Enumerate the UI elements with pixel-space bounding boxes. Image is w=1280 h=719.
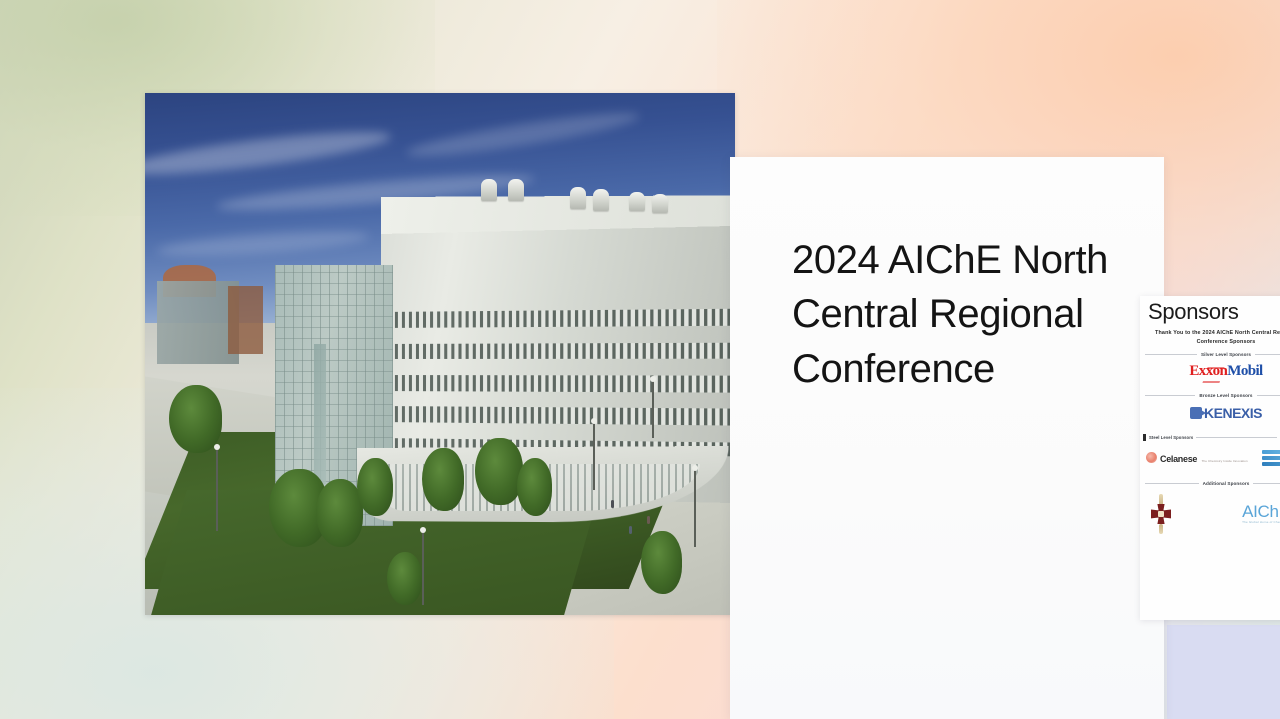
rooftop-vent-icon [508,179,524,201]
stripe [1262,462,1280,466]
window-band [381,309,735,328]
exxon-xx: xx [1199,363,1213,379]
exxon-mobil: Mobil [1227,363,1262,379]
sponsors-heading: Sponsors [1140,300,1280,324]
tier-logos-silver: ExxonMobil [1140,357,1280,387]
aiche-wordmark: AIChE [1242,502,1280,521]
rooftop-vent-icon [629,192,645,211]
sponsors-subtitle: Thank You to the 2024 AIChE North Centra… [1140,329,1280,346]
pedestrian [629,526,632,534]
window-band [381,375,735,392]
tier-logos-bronze: KENEXIS [1140,398,1280,428]
crest-bottom-ornament-icon [1159,524,1163,534]
distant-brick-building [228,286,263,354]
sponsors-poster: Sponsors Thank You to the 2024 AIChE Nor… [1140,296,1280,620]
celanese-tagline: The Chemistry Inside Innovation [1202,459,1248,463]
celanese-logo: Celanese The Chemistry Inside Innovation [1146,449,1248,467]
lamp-post [694,469,696,547]
aiche-logo: AIChE The Global Home of Chemical Engine… [1242,503,1280,524]
rooftop-vent-icon [593,189,609,211]
tier-rule-left [1145,395,1195,396]
aiche-tagline: The Global Home of Chemical Engineers [1242,521,1280,524]
tier-rule-right [1253,483,1280,484]
tier-rule-left [1145,354,1197,355]
lamp-post [422,531,424,604]
tier-label-steel: Steel Level Sponsors [1149,435,1193,440]
tree [475,438,522,506]
lamp-post [593,422,595,490]
tier-label-additional: Additional Sponsors [1203,481,1250,486]
stripe [1262,450,1280,454]
tree [641,531,682,594]
tier-rule-right [1257,395,1280,396]
tier-rule-left [1145,483,1199,484]
pedestrian [611,500,614,508]
pedestrian [647,516,650,524]
rooftop-vent-icon [481,179,497,201]
page-title: 2024 AIChE North Central Regional Confer… [792,233,1112,396]
rooftop-vent-icon [570,187,586,209]
tree [169,385,222,453]
kenexis-wordmark: KENEXIS [1204,405,1262,421]
rooftop-vent-icon [652,194,668,213]
tree [316,479,363,547]
lamp-post [216,448,218,532]
celanese-wordmark: Celanese [1160,454,1197,464]
tree [357,458,392,515]
exxon-e: E [1189,363,1198,379]
window-band [381,406,735,426]
tier-logos-additional: AIChE The Global Home of Chemical Engine… [1140,486,1280,542]
lamp-post [652,380,654,437]
blue-stripes-sponsor-logo [1262,450,1280,466]
campus-building-photo [145,93,735,615]
tier-label-silver: Silver Level Sponsors [1201,352,1251,357]
exxon-on: on [1213,363,1228,379]
tier-header-steel-node: Steel Level Sponsors Node Level [1140,434,1280,441]
window-band [381,342,735,359]
tier-bullet-icon [1143,434,1146,441]
celanese-swirl-icon [1146,452,1157,463]
tier-label-bronze: Bronze Level Sponsors [1199,393,1252,398]
tier-rule-right [1255,354,1280,355]
tier-rule-mid [1196,437,1276,438]
title-card: 2024 AIChE North Central Regional Confer… [730,157,1164,719]
tree [517,458,552,515]
stripe [1262,456,1280,460]
tree [387,552,422,604]
crest-center-icon [1158,511,1164,517]
tier-logos-steel-node: Celanese The Chemistry Inside Innovation [1140,441,1280,475]
kenexis-mark-icon [1190,407,1202,419]
exxonmobil-logo: ExxonMobil [1189,363,1262,380]
university-crest-logo [1148,494,1174,534]
background-lavender-block [1167,625,1280,719]
tree [422,448,463,511]
kenexis-logo: KENEXIS [1190,405,1262,421]
glass-tower-face [314,344,326,485]
